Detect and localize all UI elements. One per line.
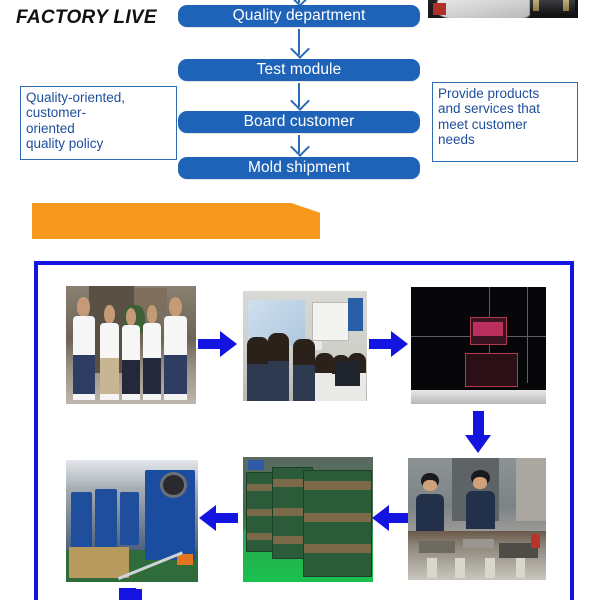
arrow-assembly-to-rack-icon [371,505,411,531]
quality-policy-note: Quality-oriented, customer- oriented qua… [20,86,177,160]
arrow-rack-to-press-icon [198,505,238,531]
stamping-press-photo [66,460,198,582]
arrow-test-to-board-icon [298,83,300,107]
arrow-cad-to-assembly-icon [465,411,491,453]
cad-design-photo [411,287,546,404]
meeting-photo [243,291,367,401]
flow-box-mold-shipment[interactable]: Mold shipment [178,157,420,179]
arrow-meeting-to-cad-icon [369,331,409,357]
factory-live-panel [34,261,574,600]
team-photo [66,286,196,404]
arrow-board-to-shipment-icon [298,135,300,153]
arrow-into-quality-department-icon [298,0,300,3]
flow-box-test-module[interactable]: Test module [178,59,420,81]
factory-live-banner [32,203,320,239]
arrow-quality-to-test-icon [298,29,300,55]
customer-needs-note: Provide products and services that meet … [432,82,578,162]
flow-box-label: Quality department [233,7,366,25]
mold-assembly-photo [408,458,546,580]
flow-box-label: Board customer [244,113,355,131]
arrow-team-to-meeting-icon [198,331,238,357]
page-root: Quality department Test module Board cus… [0,0,600,600]
factory-live-banner-label: FACTORY LIVE [16,0,157,36]
mold-rack-photo [243,457,373,582]
flow-box-board-customer[interactable]: Board customer [178,111,420,133]
flow-box-label: Test module [257,61,342,79]
flow-box-label: Mold shipment [248,159,350,177]
flow-box-quality-department[interactable]: Quality department [178,5,420,27]
bottom-cutoff-arrow-icon [119,588,136,600]
